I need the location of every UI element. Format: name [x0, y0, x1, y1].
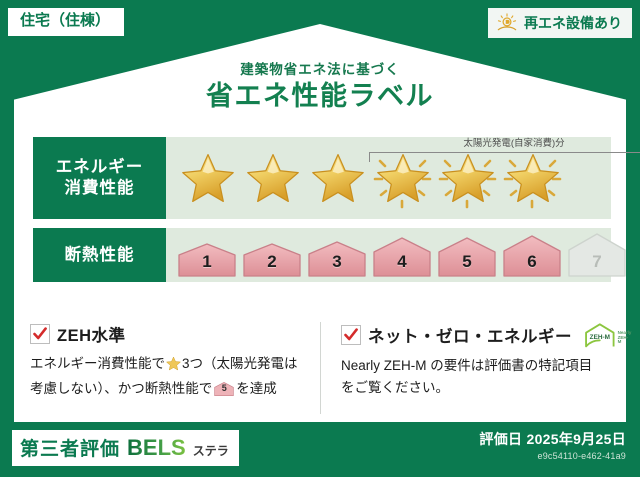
grade-value: 4 [371, 252, 433, 272]
star-item [241, 145, 304, 211]
zeh-m-logo-sub: Nearly ZEH-M [618, 331, 632, 348]
grade-house-5: 5 [436, 236, 498, 278]
insulation-label-text: 断熱性能 [65, 245, 135, 266]
insulation-rating-body: 1 2 3 [166, 228, 611, 282]
stella-label: ステラ [193, 442, 229, 459]
grade-house-6: 6 [501, 234, 563, 278]
net-zero-energy-column: ネット・ゼロ・エネルギー ZEH-M Nearly ZEH-M Nearly Z… [320, 322, 610, 414]
energy-label-line1: エネルギー [56, 157, 144, 178]
house-type-label: 住宅（住棟） [20, 12, 110, 29]
grade-value: 2 [241, 252, 303, 272]
title-subtitle: 建築物省エネ法に基づく [0, 58, 640, 78]
inline-star-icon [166, 356, 181, 378]
zeh-text-part4: を達成 [236, 381, 277, 396]
third-party-label: 第三者評価 [20, 434, 120, 461]
star-item-solar [436, 145, 499, 211]
insulation-grade-scale: 1 2 3 [176, 228, 607, 282]
star-rating [176, 137, 607, 219]
svg-text:ZEH-M: ZEH-M [590, 334, 610, 341]
inline-grade-badge: 5 [214, 381, 234, 397]
grade-house-3: 3 [306, 240, 368, 278]
zeh-text-part1: エネルギー消費性能で [30, 356, 165, 371]
bels-badge: 第三者評価 BELS ステラ [12, 430, 239, 466]
energy-label-line2: 消費性能 [65, 178, 135, 199]
star-item [306, 145, 369, 211]
zeh-standard-description: エネルギー消費性能で3つ（太陽光発電は考慮しない）、かつ断熱性能で5を達成 [30, 353, 306, 400]
grade-value: 1 [176, 252, 238, 272]
grade-house-2: 2 [241, 242, 303, 278]
energy-rating-body: 太陽光発電(自家消費)分 [166, 137, 611, 219]
renewable-badge-label: 再エネ設備あり [524, 16, 622, 30]
grade-house-4: 4 [371, 236, 433, 278]
zeh-standard-header: ZEH水準 [30, 322, 306, 346]
checkbox-checked-icon [30, 324, 50, 344]
star-item [176, 145, 239, 211]
rating-rows: エネルギー 消費性能 太陽光発電(自家消費)分 [33, 137, 611, 291]
grade-value: 5 [436, 252, 498, 272]
bels-logo-text: BELS [127, 435, 186, 461]
insulation-performance-label: 断熱性能 [33, 228, 166, 282]
grade-value: 7 [566, 252, 628, 272]
grade-house-1: 1 [176, 242, 238, 278]
zeh-standard-title: ZEH水準 [57, 322, 126, 346]
net-zero-title: ネット・ゼロ・エネルギー [368, 323, 572, 347]
footer-eval-info: 評価日 2025年9月25日 e9c54110-e462-41a9 [479, 431, 626, 461]
title-block: 建築物省エネ法に基づく 省エネ性能ラベル [0, 58, 640, 110]
evaluation-id: e9c54110-e462-41a9 [479, 451, 626, 461]
grade-value: 3 [306, 252, 368, 272]
energy-performance-row: エネルギー 消費性能 太陽光発電(自家消費)分 [33, 137, 611, 219]
sun-icon [496, 13, 518, 33]
title-main: 省エネ性能ラベル [0, 82, 640, 110]
zeh-text-part2: 3つ（太陽光発電 [182, 356, 284, 371]
star-item-solar [501, 145, 564, 211]
grade-value: 6 [501, 252, 563, 272]
evaluation-date: 評価日 2025年9月25日 [479, 431, 626, 448]
net-zero-header: ネット・ゼロ・エネルギー ZEH-M Nearly ZEH-M [341, 322, 596, 348]
inline-grade-value: 5 [214, 381, 234, 396]
net-zero-description: Nearly ZEH-M の要件は評価書の特記項目をご覧ください。 [341, 355, 596, 399]
zeh-m-sub-line2: ZEH-M [618, 335, 629, 345]
zeh-m-logo: ZEH-M Nearly ZEH-M [583, 322, 632, 348]
zeh-standard-column: ZEH水準 エネルギー消費性能で3つ（太陽光発電は考慮しない）、かつ断熱性能で5… [30, 322, 320, 414]
energy-performance-label: 住宅（住棟） 再エネ設備あり 建築物省エネ法に基づく 省エネ性能ラベル [0, 0, 640, 477]
insulation-performance-row: 断熱性能 1 [33, 228, 611, 282]
house-type-badge: 住宅（住棟） [8, 8, 124, 36]
footer: 第三者評価 BELS ステラ 評価日 2025年9月25日 e9c54110-e… [0, 422, 640, 477]
certification-columns: ZEH水準 エネルギー消費性能で3つ（太陽光発電は考慮しない）、かつ断熱性能で5… [30, 322, 610, 414]
renewable-equipment-badge: 再エネ設備あり [488, 8, 632, 38]
star-item-solar [371, 145, 434, 211]
checkbox-checked-icon [341, 325, 361, 345]
grade-house-7: 7 [566, 232, 628, 278]
energy-performance-label: エネルギー 消費性能 [33, 137, 166, 219]
